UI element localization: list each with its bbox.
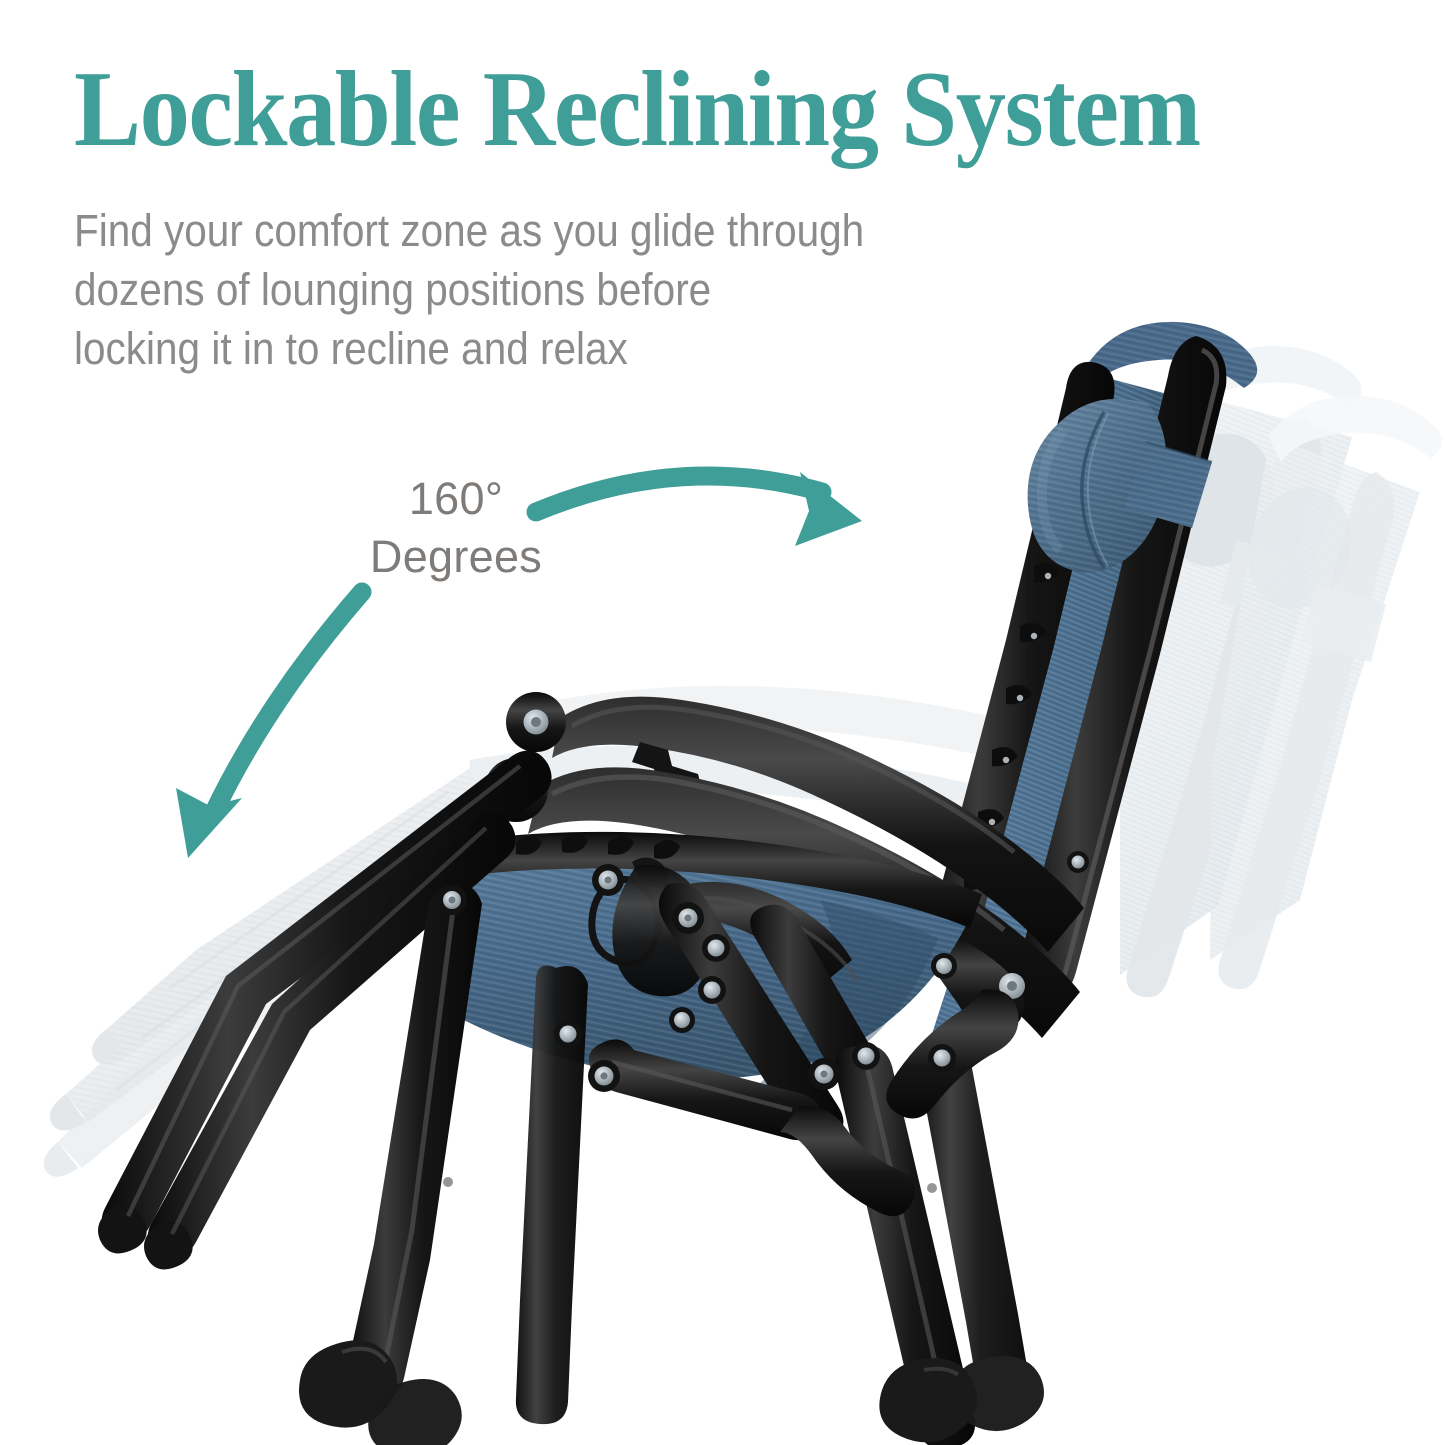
product-feature-graphic: Lockable Reclining System Find your comf…	[0, 0, 1445, 1445]
recline-backward-arrow	[176, 592, 362, 858]
product-illustration	[0, 0, 1445, 1445]
recline-forward-arrow	[536, 472, 862, 546]
chair-main	[98, 322, 1257, 1445]
